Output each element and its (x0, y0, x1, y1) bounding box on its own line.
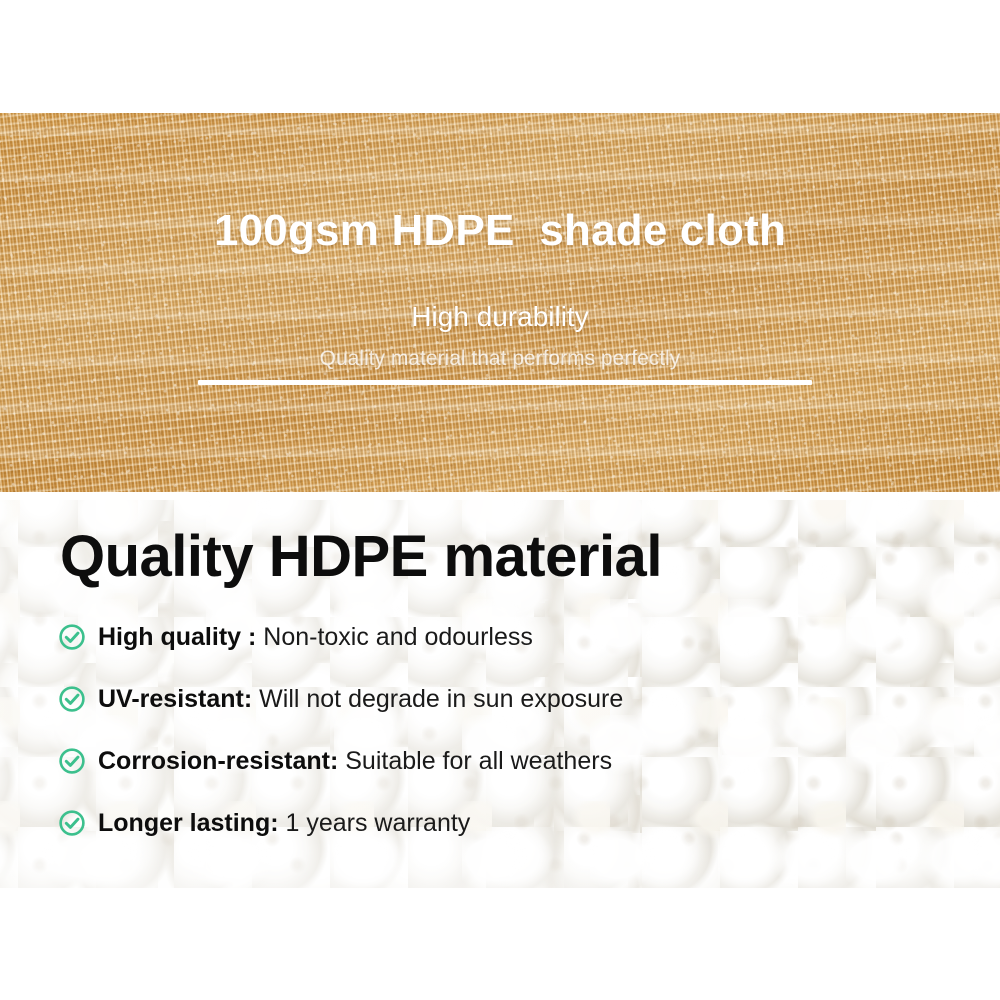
feature-list: High quality : Non-toxic and odourless U… (58, 606, 958, 854)
list-item: UV-resistant: Will not degrade in sun ex… (58, 668, 958, 730)
title-divider-rule (198, 380, 812, 385)
feature-lead: High quality : (98, 623, 256, 651)
hdpe-pellets-panel: Quality HDPE material High quality : Non… (0, 500, 1000, 888)
check-circle-icon (58, 623, 86, 651)
feature-lead: Longer lasting: (98, 809, 279, 837)
feature-rest: 1 years warranty (279, 809, 471, 837)
shade-cloth-fabric-panel: 100gsm HDPE shade cloth High durability … (0, 113, 1000, 492)
top-panel-title: 100gsm HDPE shade cloth (0, 209, 1000, 253)
feature-text: Longer lasting: 1 years warranty (98, 811, 470, 836)
list-item: Corrosion-resistant: Suitable for all we… (58, 730, 958, 792)
feature-rest: Suitable for all weathers (338, 747, 612, 775)
feature-rest: Will not degrade in sun exposure (252, 685, 623, 713)
feature-text: High quality : Non-toxic and odourless (98, 625, 533, 650)
feature-lead: UV-resistant: (98, 685, 252, 713)
top-panel-tagline: Quality material that performs perfectly (0, 348, 1000, 369)
list-item: High quality : Non-toxic and odourless (58, 606, 958, 668)
feature-rest: Non-toxic and odourless (256, 623, 533, 651)
check-circle-icon (58, 685, 86, 713)
infographic-page: 100gsm HDPE shade cloth High durability … (0, 0, 1000, 1000)
check-circle-icon (58, 809, 86, 837)
bottom-panel-heading: Quality HDPE material (60, 528, 662, 586)
feature-lead: Corrosion-resistant: (98, 747, 338, 775)
top-panel-subtitle: High durability (0, 303, 1000, 331)
feature-text: UV-resistant: Will not degrade in sun ex… (98, 687, 623, 712)
check-circle-icon (58, 747, 86, 775)
feature-text: Corrosion-resistant: Suitable for all we… (98, 749, 612, 774)
bottom-panel-copy: Quality HDPE material High quality : Non… (0, 500, 1000, 888)
list-item: Longer lasting: 1 years warranty (58, 792, 958, 854)
